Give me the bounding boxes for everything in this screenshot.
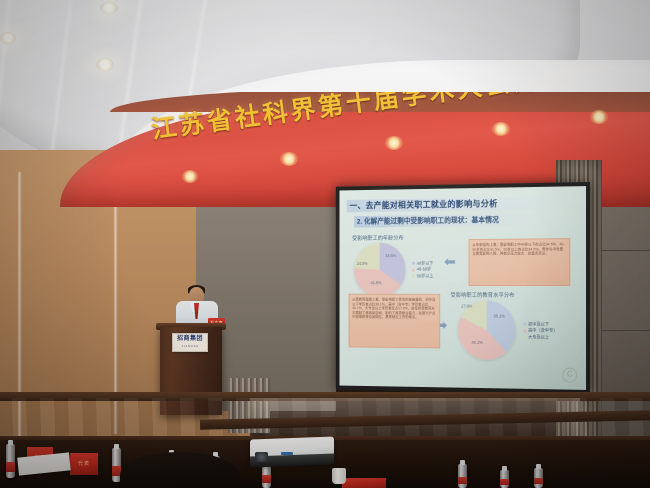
delegate-name-card — [342, 478, 386, 488]
arrow-left-icon: ⬅ — [444, 255, 456, 270]
ceiling-downlight — [0, 32, 16, 44]
podium-sign-sub: J I A N G S U — [173, 344, 207, 348]
wall-seam — [600, 330, 650, 331]
pie-1-legend-1: 40-50岁 — [417, 267, 431, 272]
projection-screen: 一、去产能对相关职工就业的影响与分析 2. 化解产能过剩中受影响职工的现状：基本… — [336, 182, 590, 394]
banner-light-reflection — [590, 110, 608, 124]
pie-2-legend-0: 初中及以下 — [528, 322, 549, 327]
pie-2-legend: 初中及以下 高中（含中专） 大专及以上 — [523, 322, 557, 341]
pie-chart-age-distribution — [354, 243, 406, 297]
pie-1-label-2: 41.5% — [371, 280, 382, 285]
pie-2-label-3: 17.8% — [461, 304, 472, 309]
slide-title: 一、去产能对相关职工就业的影响与分析 — [347, 197, 558, 213]
annotation-box-education: 从受教育程度上看，受影响职工受到的普遍偏低，初中及以下学历者占比38.1%，高中… — [349, 294, 441, 349]
podium-sign: 招商集团 J I A N G S U — [172, 333, 208, 352]
pie-2-legend-1: 高中（含中专） — [528, 328, 557, 333]
pie-1-legend-2: 50岁以上 — [417, 273, 434, 278]
slide-subtitle: 2. 化解产能过剩中受影响职工的现状：基本情况 — [354, 214, 536, 228]
water-bottle — [458, 464, 467, 488]
slide-watermark-logo: C — [562, 368, 577, 383]
pie-1-legend-0: 40岁以下 — [417, 261, 434, 266]
pie-2-legend-2: 大专及以上 — [528, 334, 549, 339]
water-bottle — [6, 444, 15, 478]
banner-light-reflection — [182, 170, 198, 183]
banner-light-reflection — [280, 152, 298, 166]
pie-1-legend: 40岁以下 40-50岁 50岁以上 — [412, 261, 433, 280]
water-bottle — [534, 468, 543, 488]
pie-chart-education-distribution — [458, 301, 515, 360]
name-card-text: 代表 — [70, 453, 98, 475]
delegate-name-card: 代表 — [70, 453, 98, 475]
chart-2-title: 受影响职工的教育水平分布 — [451, 291, 515, 299]
projector-indicator — [281, 452, 293, 455]
pie-2-label-2: 44.1% — [471, 340, 482, 345]
ceiling-downlight — [100, 2, 118, 14]
banner-light-reflection — [385, 136, 403, 150]
pie-1-label-3: 24.0% — [357, 261, 368, 266]
banner-light-reflection — [492, 122, 510, 136]
annotation-box-age: 从年龄结构上看，受影响职工中40岁以下的占比34.5%，40-50岁的占比41.… — [469, 238, 571, 286]
pie-1-label-1: 34.5% — [385, 253, 396, 258]
projector-lens — [255, 452, 268, 462]
wall-seam — [600, 250, 650, 251]
chart-1-title: 受影响职工的年龄分布 — [352, 234, 403, 242]
ceiling-downlight — [96, 58, 114, 71]
presentation-slide: 一、去产能对相关职工就业的影响与分析 2. 化解产能过剩中受影响职工的现状：基本… — [339, 186, 586, 390]
podium-sign-main: 招商集团 — [173, 334, 207, 344]
pie-2-label-1: 38.1% — [493, 314, 504, 319]
paper-cup — [332, 468, 346, 484]
water-bottle — [500, 470, 509, 488]
conference-hall-photo: 江苏省社科界第十届学术大会开幕式暨首届江苏 一、去产能对相关职工就业的影响与分析… — [0, 0, 650, 488]
